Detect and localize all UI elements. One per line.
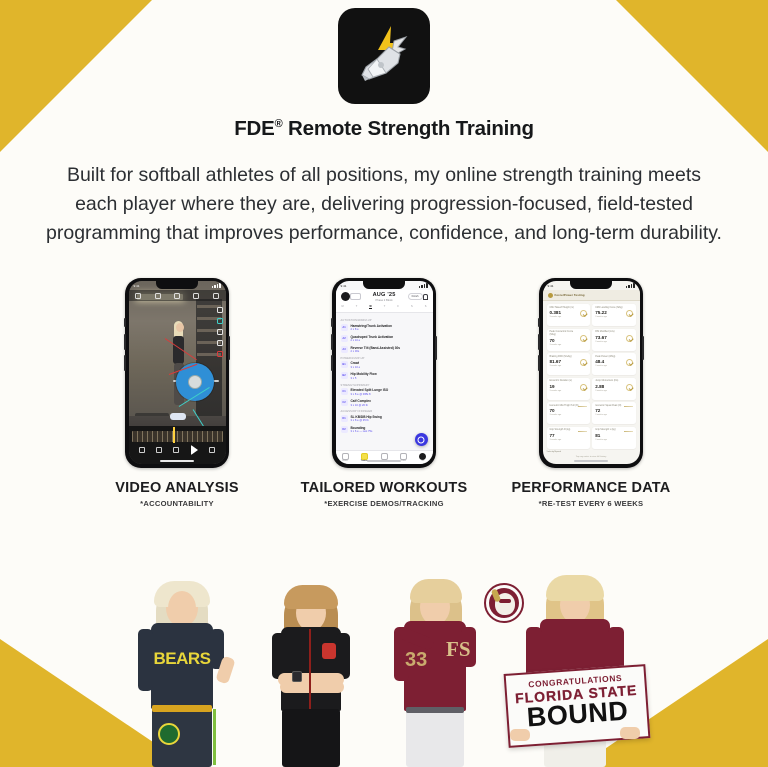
phone-notch — [156, 281, 198, 289]
exercise-badge: B1 — [341, 361, 348, 368]
step-back-icon[interactable] — [173, 447, 179, 453]
exercise-badge: C1 — [341, 388, 348, 395]
phone-power-button — [642, 336, 644, 360]
check-ring-icon — [580, 335, 587, 342]
tab-home[interactable]: Home — [342, 453, 349, 463]
section-label: STRENGTH/PRIMARY — [341, 384, 428, 387]
metric-card[interactable]: Peak Concentric Force (N/kg) 70 3 weeks … — [547, 329, 590, 351]
close-icon[interactable] — [193, 293, 199, 299]
metric-card[interactable]: Isometric Squat Peak (N) 72 3 weeks ago — [592, 402, 635, 424]
list-item[interactable]: A3 Reverse Tilt (Band-Assisted) 30s 2 x … — [341, 346, 428, 354]
metric-date: 3 weeks ago — [550, 439, 587, 441]
feature-subtitle: *ACCOUNTABILITY — [115, 499, 238, 508]
video-playback-bar — [129, 426, 226, 464]
performance-screen: 9:41 Force/Power Testing CMJ Takeoff Hei… — [543, 281, 640, 464]
home-icon — [342, 453, 349, 460]
trend-dash-icon — [624, 431, 633, 432]
metric-card[interactable]: Grip Strength R (kg) 77 3 weeks ago — [547, 427, 590, 449]
metric-label: Peak Power (W/kg) — [595, 356, 632, 359]
exercise-list[interactable]: ACTIVATION/WARM-UP A1 Hamstring/Trunk Ac… — [336, 313, 433, 434]
home-indicator — [574, 460, 608, 462]
feature-column-performance-data: 9:41 Force/Power Testing CMJ Takeoff Hei… — [532, 278, 650, 508]
video-top-toolbar[interactable] — [129, 290, 226, 301]
check-ring-icon — [626, 384, 633, 391]
bell-icon[interactable] — [423, 294, 428, 300]
metric-value: 81 — [595, 433, 632, 438]
metric-card[interactable]: Isometric Mid-Thigh Pull (N) 70 3 weeks … — [547, 402, 590, 424]
athlete-photo-strip: BEARS — [0, 567, 768, 767]
registered-trademark-icon: ® — [275, 118, 283, 130]
metric-value: 72 — [595, 408, 632, 413]
brand-logo-tile — [338, 8, 430, 104]
avatar[interactable] — [341, 292, 350, 301]
metric-date: 3 weeks ago — [550, 316, 587, 318]
profile-icon — [419, 453, 426, 460]
list-item[interactable]: B1 Crawl 3 x 10 e — [341, 361, 428, 369]
feature-column-video-analysis: 9:41 — [118, 278, 236, 508]
day-t1[interactable]: T — [356, 305, 358, 309]
athlete-garnet-jersey: 33 FS — [376, 577, 494, 767]
day-s1[interactable]: S — [411, 305, 413, 309]
description-line-1: Built for softball athletes of all posit… — [8, 161, 760, 190]
playback-controls[interactable] — [129, 445, 226, 455]
description-line-3: programming that improves performance, c… — [8, 219, 760, 248]
camera-icon[interactable] — [213, 293, 219, 299]
phone-mute-switch — [124, 318, 126, 327]
angle-tool-icon[interactable] — [217, 318, 223, 324]
video-analysis-screen: 9:41 — [129, 281, 226, 464]
page-title: FDE® Remote Strength Training — [0, 117, 768, 141]
chart-icon — [381, 453, 388, 460]
bolt-badge-icon — [548, 293, 553, 298]
tab-profile[interactable]: Me — [419, 453, 426, 463]
feature-title: PERFORMANCE DATA — [512, 480, 671, 496]
metric-value: 77 — [550, 433, 587, 438]
tab-label: Me — [421, 460, 424, 462]
phone-mute-switch — [331, 318, 333, 327]
fsu-seminole-seal-icon — [484, 583, 524, 623]
athlete-with-sign: CONGRATULATIONS FLORIDA STATE BOUND — [500, 577, 650, 767]
exercise-sets: 3 x 10 e — [351, 366, 361, 369]
page-title-rest: Remote Strength Training — [283, 117, 534, 140]
exercise-badge: C2 — [341, 399, 348, 406]
trend-dash-icon — [578, 431, 587, 432]
exercise-sets: 3 x 6 e — rest 75s — [351, 430, 373, 433]
exercise-sets: 3 x 10 @ 20 lb — [351, 404, 371, 407]
metric-card[interactable]: Jump Momentum (Ns) 2.88 3 weeks ago — [592, 378, 635, 400]
phone-mockup-performance-data[interactable]: 9:41 Force/Power Testing CMJ Takeoff Hei… — [539, 278, 643, 468]
metric-date: 3 weeks ago — [595, 316, 632, 318]
metric-date: 3 weeks ago — [595, 365, 632, 367]
line-tool-icon[interactable] — [217, 307, 223, 313]
phone-volume-down-button — [124, 355, 126, 371]
metric-card[interactable]: Peak Power (W/kg) 48.4 3 weeks ago — [592, 353, 635, 375]
day-m[interactable]: M — [342, 305, 344, 309]
performance-header: Force/Power Testing — [543, 290, 640, 301]
phone-volume-down-button — [331, 355, 333, 371]
exercise-sets: 2 x 10 e — [351, 339, 394, 342]
week-day-selector[interactable]: M T W T F S S — [341, 305, 428, 309]
metric-date: 3 weeks ago — [550, 365, 587, 367]
list-item[interactable]: C2 Calf Complex 3 x 10 @ 20 lb — [341, 399, 428, 407]
feature-subtitle: *EXERCISE DEMOS/TRACKING — [301, 499, 468, 508]
logo-container — [0, 0, 768, 104]
feature-caption-performance-data: PERFORMANCE DATA *RE-TEST EVERY 6 WEEKS — [512, 480, 671, 508]
metric-label: RSI Modified (m/s) — [595, 331, 632, 334]
metric-date: 3 weeks ago — [550, 414, 587, 416]
exercise-sets: 3 x 8 e @ RPE 8 — [351, 393, 389, 396]
status-icons — [212, 283, 221, 288]
trend-dash-icon — [578, 406, 587, 407]
section-label: ACCESSORY/FINISHER — [341, 410, 428, 413]
description-paragraph: Built for softball athletes of all posit… — [8, 161, 760, 248]
check-ring-icon — [580, 384, 587, 391]
metric-card[interactable]: CMJ Takeoff Height (m) 0.381 3 weeks ago — [547, 304, 590, 326]
winged-shoe-lightning-icon — [353, 21, 415, 92]
metrics-grid[interactable]: CMJ Takeoff Height (m) 0.381 3 weeks ago… — [543, 301, 640, 449]
phone-volume-up-button — [538, 334, 540, 350]
list-item[interactable]: A1 Hamstring/Trunk Activation 2 x 8 e — [341, 324, 428, 332]
fsu-logo-icon: FS — [446, 637, 470, 663]
workout-date-block: AUG '25 Phase 2 Block — [361, 292, 408, 302]
day-s2[interactable]: S — [425, 305, 427, 309]
tab-label: Inbox — [401, 460, 406, 462]
exercise-name: Hamstring/Trunk Activation — [351, 324, 393, 328]
status-time: 9:41 — [134, 284, 140, 288]
metric-date: 3 weeks ago — [595, 439, 632, 441]
metric-label: CMJ Takeoff Height (m) — [550, 307, 587, 310]
workout-date: AUG '25 — [361, 292, 408, 298]
phone-mockup-tailored-workouts[interactable]: 9:41 AUG '25 Phase 2 Block — [332, 278, 436, 468]
status-time: 9:41 — [548, 284, 554, 288]
jersey-text: BEARS — [153, 649, 210, 669]
phone-volume-up-button — [331, 334, 333, 350]
inbox-icon — [400, 453, 407, 460]
metric-card[interactable]: Grip Strength L (kg) 81 3 weeks ago — [592, 427, 635, 449]
phone-volume-down-button — [538, 355, 540, 371]
exercise-badge: A2 — [341, 335, 348, 342]
check-ring-icon — [626, 335, 633, 342]
tab-label: Home — [342, 460, 348, 462]
metric-value: 70 — [550, 408, 587, 413]
home-indicator — [367, 460, 401, 462]
phone-volume-up-button — [124, 334, 126, 350]
exercise-sets: 2 x 8 e — [351, 328, 393, 331]
feature-title: VIDEO ANALYSIS — [115, 480, 238, 496]
exercise-badge: D1 — [341, 415, 348, 422]
metric-label: CMJ Landing Force (N/kg) — [595, 307, 632, 310]
list-item[interactable]: B2 Hip Mobility Flow 3 x 5 — [341, 372, 428, 380]
exercise-badge: D2 — [341, 426, 348, 433]
feature-caption-tailored-workouts: TAILORED WORKOUTS *EXERCISE DEMOS/TRACKI… — [301, 480, 468, 508]
phone-notch — [363, 281, 405, 289]
pen-icon[interactable] — [155, 293, 161, 299]
status-icons — [626, 283, 635, 288]
metric-card[interactable]: RSI Modified (m/s) 73.67 3 weeks ago — [592, 329, 635, 351]
performance-title: Force/Power Testing — [555, 293, 585, 297]
tab-inbox[interactable]: Inbox — [400, 453, 407, 463]
dumbbell-icon — [361, 453, 368, 460]
metric-date: 3 weeks ago — [550, 344, 587, 346]
day-f[interactable]: F — [397, 305, 399, 309]
circle-tool-icon[interactable] — [217, 329, 223, 335]
feature-column-tailored-workouts: 9:41 AUG '25 Phase 2 Block — [325, 278, 443, 508]
undo-tool-icon[interactable] — [217, 351, 223, 357]
workout-phase: Phase 2 Block — [361, 299, 408, 302]
video-playhead[interactable] — [173, 427, 174, 443]
metric-label: Braking RFD (N/s/kg) — [550, 356, 587, 359]
day-w[interactable]: W — [369, 305, 371, 309]
metric-date: 3 weeks ago — [595, 414, 632, 416]
feature-phones-row: 9:41 — [0, 278, 768, 508]
home-indicator — [160, 460, 194, 462]
phone-power-button — [228, 336, 230, 360]
section-label: POWER/JUMP-UP — [341, 357, 428, 360]
phone-power-button — [435, 336, 437, 360]
athlete-baylor-bears: BEARS — [118, 577, 246, 767]
day-t2[interactable]: T — [384, 305, 386, 309]
video-scrubber[interactable] — [132, 431, 223, 442]
exercise-sets: 2 x 30s — [351, 350, 401, 353]
phone-mute-switch — [538, 318, 540, 327]
list-item[interactable]: D1 SL KB/DB Hip Swing 3 x 8 e @ 35 lb — [341, 415, 428, 423]
phone-mockup-video-analysis[interactable]: 9:41 — [125, 278, 229, 468]
trend-dash-icon — [624, 406, 633, 407]
list-item[interactable]: D2 Bounding 3 x 6 e — rest 75s — [341, 426, 428, 434]
status-icons — [419, 283, 428, 288]
status-time: 9:41 — [341, 284, 347, 288]
exercise-badge: A1 — [341, 324, 348, 331]
metric-card[interactable]: Eccentric Duration (s) 19 3 weeks ago — [547, 378, 590, 400]
feature-caption-video-analysis: VIDEO ANALYSIS *ACCOUNTABILITY — [115, 480, 238, 508]
calendar-icon[interactable] — [350, 293, 361, 300]
feature-subtitle: *RE-TEST EVERY 6 WEEKS — [512, 499, 671, 508]
workout-screen: 9:41 AUG '25 Phase 2 Block — [336, 281, 433, 464]
feature-title: TAILORED WORKOUTS — [301, 480, 468, 496]
play-icon[interactable] — [191, 445, 198, 455]
timer-icon[interactable] — [415, 433, 428, 446]
ruler-tool-icon[interactable] — [217, 340, 223, 346]
description-line-2: each player where they are, delivering p… — [8, 190, 760, 219]
athlete-black-jersey — [252, 577, 370, 767]
step-forward-icon[interactable] — [209, 447, 215, 453]
exercise-name: Calf Complex — [351, 399, 371, 403]
page-title-main: FDE — [234, 117, 274, 140]
shapes-icon[interactable] — [174, 293, 180, 299]
exercise-badge: B2 — [341, 372, 348, 379]
list-item[interactable]: A2 Quadruped Trunk Activation 2 x 10 e — [341, 335, 428, 343]
exercise-name: Hip Mobility Flow — [351, 372, 377, 376]
metric-card[interactable]: Braking RFD (N/s/kg) 81.67 3 weeks ago — [547, 353, 590, 375]
drawing-tools-panel[interactable] — [217, 307, 223, 357]
metric-label: Jump Momentum (Ns) — [595, 380, 632, 383]
metric-card[interactable]: CMJ Landing Force (N/kg) 75.22 3 weeks a… — [592, 304, 635, 326]
workout-header: AUG '25 Phase 2 Block Finish M T W T F — [336, 290, 433, 313]
metric-label: Eccentric Duration (s) — [550, 380, 587, 383]
list-item[interactable]: C1 Elevated Split Lunge ISO 3 x 8 e @ RP… — [341, 388, 428, 396]
promo-page: FDE® Remote Strength Training Built for … — [0, 0, 768, 767]
exercise-name: Crawl — [351, 361, 361, 365]
rotate-icon[interactable] — [156, 447, 162, 453]
grid-icon[interactable] — [135, 293, 141, 299]
speed-icon[interactable] — [139, 447, 145, 453]
exercise-sets: 3 x 8 e @ 35 lb — [351, 419, 382, 422]
finish-button[interactable]: Finish — [408, 293, 423, 300]
exercise-name: Elevated Split Lunge ISO — [351, 388, 389, 392]
exercise-sets: 3 x 5 — [351, 377, 377, 380]
jersey-number: 33 — [405, 649, 427, 672]
phone-notch — [570, 281, 612, 289]
exercise-badge: A3 — [341, 346, 348, 353]
section-label: ACTIVATION/WARM-UP — [341, 319, 428, 322]
